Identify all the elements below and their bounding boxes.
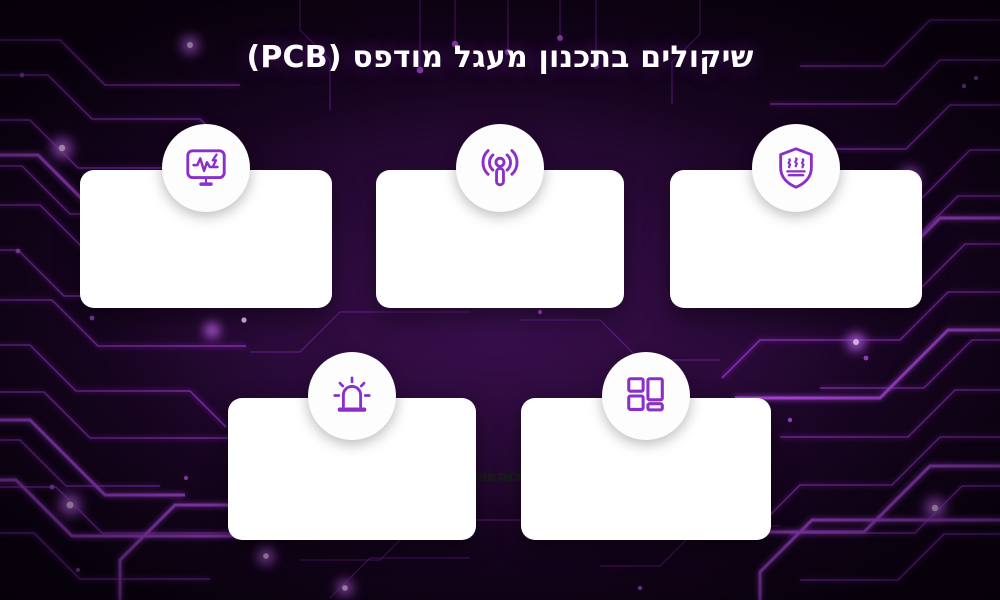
card-label: פריסה פיזית	[14, 467, 986, 487]
infographic-canvas: שיקולים בתכנון מעגל מודפס (PCB) זרם וקיב…	[0, 0, 1000, 600]
oscilloscope-monitor-icon	[162, 124, 250, 212]
signal-broadcast-icon	[456, 124, 544, 212]
page-title: שיקולים בתכנון מעגל מודפס (PCB)	[0, 40, 1000, 75]
shield-heat-icon	[752, 124, 840, 212]
layout-grid-icon	[602, 352, 690, 440]
alarm-siren-icon	[308, 352, 396, 440]
